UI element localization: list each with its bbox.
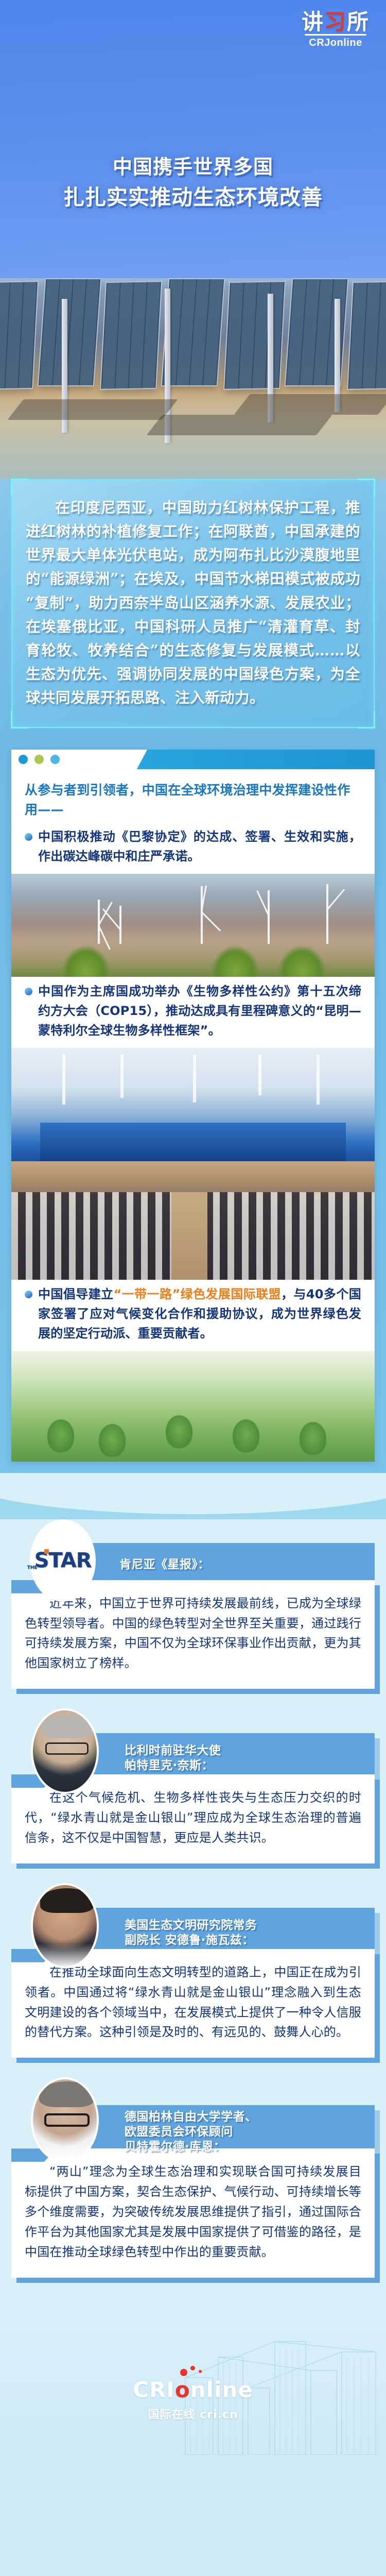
brand-logo: 讲习所 CRJonline	[300, 11, 372, 48]
hair-icon	[41, 1715, 93, 1738]
cri-footer-logo: CRIonline 国际在线 cri.cn	[0, 2377, 386, 2422]
avatar	[31, 2077, 99, 2163]
star-logo-word: STAR	[34, 1549, 92, 1572]
eyeglasses-icon	[44, 2113, 90, 2127]
governance-section: 从参与者到引领者，中国在全球环境治理中发挥建设性作用—— 中国积极推动《巴黎协定…	[0, 742, 386, 1472]
cri-wordmark-o: o	[175, 2377, 190, 2402]
card-titlebar	[11, 750, 375, 769]
tree-icon	[233, 1419, 259, 1452]
bubble-icon	[180, 2369, 187, 2376]
eyeglasses-icon	[45, 1742, 89, 1755]
corner-bracket-icon	[358, 711, 375, 728]
speaker-header: 比利时前驻华大使 帕特里克·奈斯：	[11, 1706, 375, 1784]
hair-icon	[40, 1888, 94, 1913]
bullet-text: 中国倡导建立“一带一路”绿色发展国际联盟，与40多个国家签署了应对气候变化合作和…	[38, 1285, 361, 1344]
speaker-name: 美国生态文明研究院常务 副院长 安德鲁·施瓦兹：	[125, 1918, 257, 1948]
hero-section: 讲习所 CRJonline 中国携手世界多国 扎扎实实推动生态环境改善	[0, 0, 386, 479]
bubble-icon	[190, 2366, 195, 2370]
infographic-page: 讲习所 CRJonline 中国携手世界多国 扎扎实实推动生态环境改善	[0, 0, 386, 2455]
wind-turbine-icon	[201, 886, 203, 944]
star-logo-accent	[44, 1549, 49, 1554]
speaker-name: 肯尼亚《星报》：	[119, 1557, 210, 1572]
cri-wordmark: CRIonline	[133, 2377, 253, 2402]
cri-wordmark-right: nline	[190, 2377, 253, 2402]
speaker-header: 德国柏林自由大学学者、 欧盟委员会环保顾问 贝特霍尔德·库恩：	[11, 2075, 375, 2158]
avatar	[31, 1883, 99, 1969]
ceiling-lamp-icon	[62, 1055, 65, 1105]
solar-panel	[38, 278, 102, 386]
bullet-text-before: 中国倡导建立	[38, 1287, 114, 1301]
conference-hall-photo	[11, 1161, 375, 1280]
brand-logo-underline	[305, 34, 366, 36]
brand-logo-text: 讲习所	[302, 11, 370, 33]
window-dots	[19, 755, 60, 764]
wind-turbine-icon	[268, 890, 270, 944]
solar-panel	[347, 281, 386, 390]
tree-icon	[47, 1419, 74, 1452]
corner-bracket-icon	[358, 479, 375, 496]
footer: CRIonline 国际在线 cri.cn	[0, 2300, 386, 2455]
quote-text: 在这个气候危机、生物多样性丧失与生态压力交织的时代，“绿水青山就是金山银山”理应…	[25, 1788, 361, 1848]
solar-panel	[100, 281, 162, 390]
star-logo-the: THE	[27, 1565, 38, 1570]
quote-text: “两山”理念为全球生态治理和实现联合国可持续发展目标提供了中国方案，契合生态保护…	[25, 2162, 361, 2262]
wind-turbine-icon	[326, 884, 328, 944]
ceiling-lamp-icon	[120, 1055, 124, 1098]
list-item: 中国积极推动《巴黎协定》的达成、签署、生效和实施，作出碳达峰碳中和庄严承诺。	[11, 822, 375, 874]
cri-wordmark-left: CRI	[133, 2377, 175, 2402]
quote-text: 在推动全球面向生态文明转型的道路上，中国正在成为引领者。中国通过将“绿水青山就是…	[25, 1962, 361, 2043]
turbine-blade-icon	[326, 889, 345, 910]
foreground-bush	[63, 946, 109, 977]
governance-heading: 从参与者到引领者，中国在全球环境治理中发挥建设性作用——	[11, 769, 375, 822]
cri-footer-subtext: 国际在线 cri.cn	[0, 2405, 386, 2422]
wind-turbine-icon	[119, 906, 121, 944]
quote-block: 比利时前驻华大使 帕特里克·奈斯： 在这个气候危机、生物多样性丧失与生态压力交织…	[0, 1706, 386, 1881]
page-title-line-2: 扎扎实实推动生态环境改善	[0, 184, 386, 211]
conference-stage	[40, 1123, 345, 1161]
solar-panel	[0, 281, 39, 390]
star-logo-text: THE STAR	[34, 1549, 92, 1572]
intro-card: 在印度尼西亚，中国助力红树林保护工程，推进红树林的补植修复工作；在阿联酋，中国承…	[11, 479, 375, 728]
panel-shadow	[234, 394, 386, 415]
quote-text: 近年来，中国立于世界可持续发展最前线，已成为全球绿色转型领导者。中国的绿色转型对…	[25, 1594, 361, 1674]
governance-card: 从参与者到引领者，中国在全球环境治理中发挥建设性作用—— 中国积极推动《巴黎协定…	[11, 750, 375, 1461]
corner-bracket-icon	[11, 711, 28, 728]
tree-icon	[99, 1424, 126, 1457]
solar-panel	[223, 281, 286, 390]
list-item: 中国倡导建立“一带一路”绿色发展国际联盟，与40多个国家签署了应对气候变化合作和…	[11, 1280, 375, 1351]
quote-card: “两山”理念为全球生态治理和实现联合国可持续发展目标提供了中国方案，契合生态保护…	[11, 2148, 375, 2277]
quote-block: THE STAR 肯尼亚《星报》： 近年来，中国立于世界可持续发展最前线，已成为…	[0, 1519, 386, 1707]
panel-shadow	[7, 399, 178, 420]
intro-section: 在印度尼西亚，中国助力红树林保护工程，推进红树林的补植修复工作；在阿联酋，中国承…	[0, 479, 386, 742]
turbine-blade-icon	[98, 902, 113, 926]
bullet-dot-icon	[25, 988, 32, 995]
solar-panel-row	[0, 278, 386, 386]
ceiling-lamp-icon	[193, 1055, 196, 1102]
cop15-conference-photo	[11, 1048, 375, 1161]
avatar	[31, 1708, 99, 1794]
page-title: 中国携手世界多国 扎扎实实推动生态环境改善	[0, 155, 386, 211]
quote-block: 美国生态文明研究院常务 副院长 安德鲁·施瓦兹： 在推动全球面向生态文明转型的道…	[0, 1881, 386, 2076]
section-divider	[0, 1473, 386, 1519]
bullet-text: 中国积极推动《巴黎协定》的达成、签署、生效和实施，作出碳达峰碳中和庄严承诺。	[38, 827, 361, 867]
speaker-name: 德国柏林自由大学学者、 欧盟委员会环保顾问 贝特霍尔德·库恩：	[125, 2110, 257, 2155]
foreground-bush	[212, 946, 258, 977]
turbine-blade-icon	[102, 908, 121, 930]
tree-icon	[300, 1422, 326, 1455]
blue-dot-icon	[19, 755, 28, 764]
turbine-blade-icon	[201, 911, 221, 931]
bullet-dot-icon	[25, 833, 32, 841]
bullet-dot-icon	[25, 1291, 32, 1298]
page-title-line-1: 中国携手世界多国	[0, 155, 386, 180]
ceiling-lamp-icon	[258, 1055, 261, 1095]
solar-panel	[161, 278, 225, 386]
brand-logo-subtext: CRJonline	[300, 38, 372, 48]
list-item: 中国作为主席国成功举办《生物多样性公约》第十五次缔约方大会（COP15），推动达…	[11, 977, 375, 1048]
star-newspaper-logo: THE STAR	[30, 1519, 96, 1602]
intro-paragraph: 在印度尼西亚，中国助力红树林保护工程，推进红树林的补植修复工作；在阿联酋，中国承…	[26, 496, 360, 709]
bullet-text: 中国作为主席国成功举办《生物多样性公约》第十五次缔约方大会（COP15），推动达…	[38, 982, 361, 1041]
hair-icon	[39, 2081, 95, 2107]
foreground-bush	[279, 946, 325, 977]
panel-shadow	[146, 415, 332, 435]
quote-block: 德国柏林自由大学学者、 欧盟委员会环保顾问 贝特霍尔德·库恩： “两山”理念为全…	[0, 2075, 386, 2295]
center-aisle	[171, 1192, 208, 1280]
green-dot-icon	[34, 755, 44, 764]
light-blue-dot-icon	[50, 755, 60, 764]
quotes-section: THE STAR 肯尼亚《星报》： 近年来，中国立于世界可持续发展最前线，已成为…	[0, 1519, 386, 2300]
bubble-icon	[199, 2370, 202, 2373]
divider-arc	[0, 1473, 386, 1514]
ceiling-lamp-icon	[317, 1055, 320, 1105]
wind-farm-photo	[11, 874, 375, 977]
corner-bracket-icon	[11, 479, 28, 496]
media-header: THE STAR 肯尼亚《星报》：	[11, 1519, 375, 1587]
speaker-header: 美国生态文明研究院常务 副院长 安德鲁·施瓦兹：	[11, 1881, 375, 1958]
bullet-text-highlight: “一带一路”绿色发展国际联盟	[114, 1287, 282, 1301]
speaker-name: 比利时前驻华大使 帕特里克·奈斯：	[125, 1743, 221, 1773]
tree-icon	[166, 1415, 192, 1448]
green-landscape-photo	[11, 1351, 375, 1462]
solar-farm-photo	[0, 278, 386, 479]
